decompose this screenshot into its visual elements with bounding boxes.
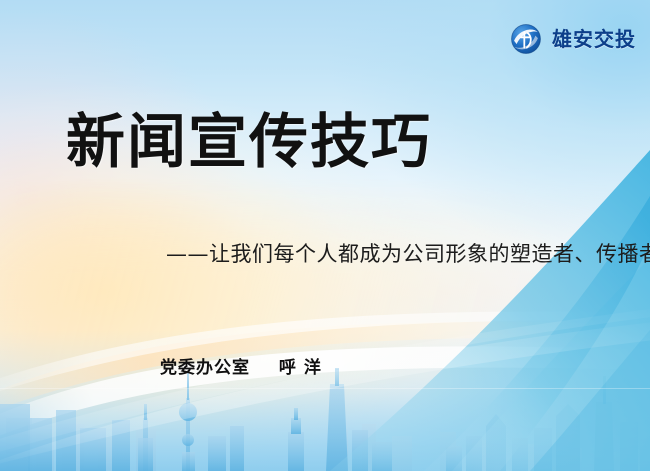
presenter-department: 党委办公室: [160, 358, 250, 378]
light-beams: [0, 304, 650, 471]
presenter-name: 呼 洋: [279, 358, 322, 378]
background-warm-glow: [0, 0, 650, 471]
horizon-line: [0, 388, 650, 389]
presenter-byline: 党委办公室 呼 洋: [160, 353, 322, 378]
background-artwork: [0, 0, 650, 471]
cyan-ribbon-swoosh: [330, 150, 650, 471]
light-arc-band-2: [0, 322, 650, 424]
company-logo: 雄安交投: [509, 22, 636, 56]
slide-title: 新闻宣传技巧: [66, 108, 432, 176]
background-rose-haze: [0, 0, 650, 471]
background-sky-gradient: [0, 0, 650, 471]
light-arc-band-1: [0, 346, 650, 452]
slide-subtitle: ——让我们每个人都成为公司形象的塑造者、传播者: [166, 238, 650, 268]
company-logo-text: 雄安交投: [552, 29, 636, 49]
background-bottom-blue: [0, 330, 650, 471]
light-arc-band-3: [0, 311, 650, 404]
background-warm-band: [0, 0, 650, 471]
city-skyline-silhouette: [0, 368, 650, 471]
presentation-slide: 雄安交投 新闻宣传技巧 ——让我们每个人都成为公司形象的塑造者、传播者 党委办公…: [0, 0, 650, 471]
background-topright-blue: [0, 0, 650, 471]
xiongan-jiaotou-emblem-icon: [509, 22, 543, 56]
